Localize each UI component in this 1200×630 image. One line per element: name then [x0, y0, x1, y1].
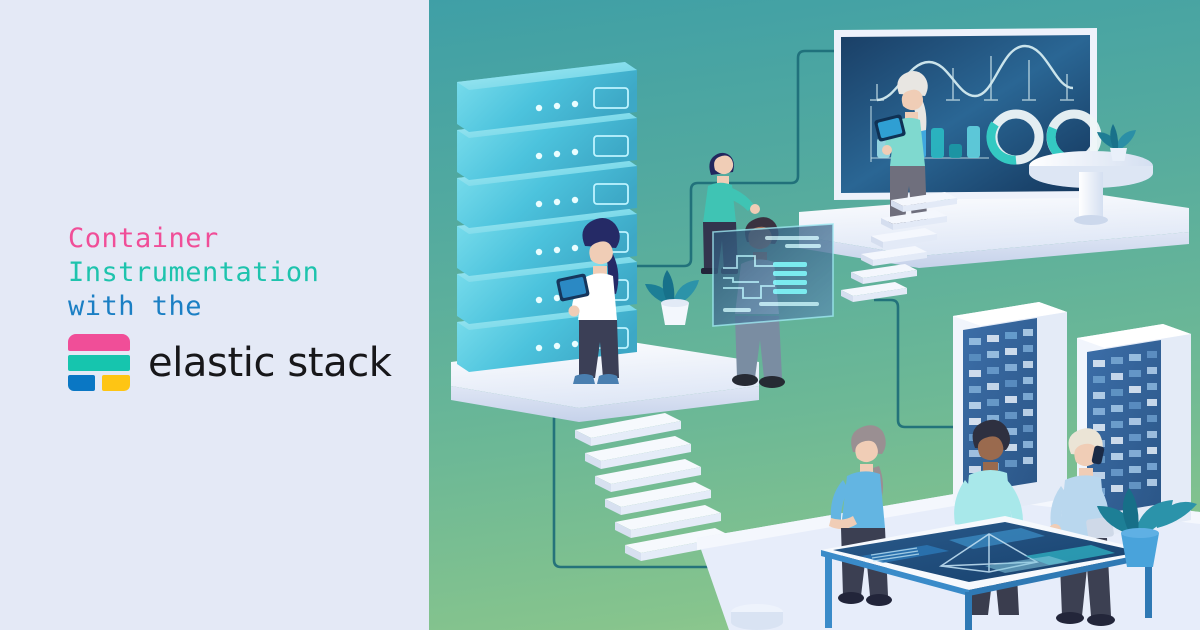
- elastic-logo-mark-icon: [68, 334, 130, 392]
- banner-canvas: Container Instrumentation with the elast…: [0, 0, 1200, 630]
- title-line-with-the: with the: [68, 290, 408, 324]
- title-line-container: Container: [68, 222, 408, 256]
- elastic-logo: elastic stack: [68, 334, 408, 392]
- logo-bar-teal-icon: [68, 355, 130, 371]
- stair-step: [851, 264, 917, 284]
- upper-platform: [799, 190, 1189, 268]
- title-panel: Container Instrumentation with the elast…: [0, 0, 429, 630]
- logo-bar-pink-icon: [68, 334, 130, 351]
- small-pedestal: [731, 604, 783, 630]
- logo-bar-yellow-icon: [102, 375, 130, 391]
- elastic-stack-wordmark: elastic stack: [148, 343, 392, 383]
- plant-on-platform-icon: [645, 270, 699, 325]
- hologram-panel: [713, 224, 833, 326]
- hero-illustration: [429, 0, 1200, 630]
- title-block: Container Instrumentation with the elast…: [68, 222, 408, 392]
- logo-bar-blue-icon: [68, 375, 95, 391]
- touch-table-scene: [821, 420, 1153, 630]
- title-line-instrumentation: Instrumentation: [68, 256, 408, 290]
- illustration-vector: [429, 0, 1200, 630]
